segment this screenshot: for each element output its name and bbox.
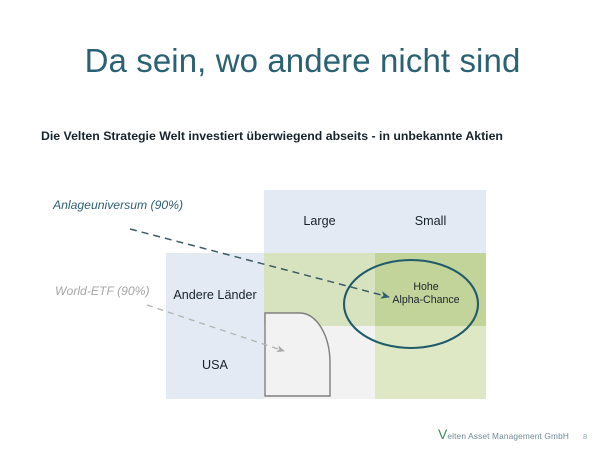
annotation-anlageuniversum-label: Anlageuniversum (90%) xyxy=(53,198,183,212)
matrix-cell-large-andere-laender xyxy=(264,253,375,326)
matrix-cell-small-usa xyxy=(375,326,486,399)
matrix-row-label-column: Andere Länder USA xyxy=(166,253,264,399)
matrix-header-large: Large xyxy=(264,190,375,253)
matrix-row-label-andere-laender: Andere Länder xyxy=(160,288,270,302)
matrix-row-label-usa: USA xyxy=(160,358,270,372)
matrix-header-small: Small xyxy=(375,190,486,253)
footer-company-name: elten Asset Management GmbH xyxy=(447,431,569,441)
matrix-cell-large-usa xyxy=(264,326,375,399)
velten-logo-initial: V xyxy=(438,427,447,441)
hohe-alpha-chance-label: Hohe Alpha-Chance xyxy=(376,281,476,307)
hohe-alpha-chance-line2: Alpha-Chance xyxy=(376,294,476,307)
page-title: Da sein, wo andere nicht sind xyxy=(0,42,605,80)
slide-subtitle: Die Velten Strategie Welt investiert übe… xyxy=(41,129,503,143)
annotation-world-etf-label: World-ETF (90%) xyxy=(55,284,150,298)
matrix-header-small-label: Small xyxy=(375,214,486,228)
footer-company: V elten Asset Management GmbH xyxy=(438,427,569,441)
page-number: 8 xyxy=(583,432,587,441)
matrix-header-large-label: Large xyxy=(264,214,375,228)
hohe-alpha-chance-line1: Hohe xyxy=(376,281,476,294)
slide-canvas: Da sein, wo andere nicht sind Die Velten… xyxy=(0,0,605,454)
